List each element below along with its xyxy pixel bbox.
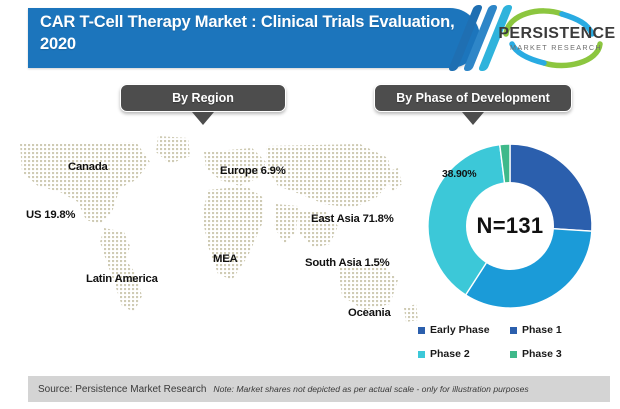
footer-source: Source: Persistence Market Research <box>38 384 206 395</box>
map-label-canada: Canada <box>68 161 108 173</box>
legend-swatch-phase-1 <box>510 327 517 334</box>
legend-label-phase-1: Phase 1 <box>522 324 562 336</box>
world-map: Canada US 19.8% Latin America Europe 6.9… <box>8 128 428 340</box>
legend-swatch-early-phase <box>418 327 425 334</box>
map-label-europe: Europe 6.9% <box>220 165 286 177</box>
logo-subtitle: MARKET RESEARCH <box>500 44 612 51</box>
legend-item-phase-1: Phase 1 <box>510 324 614 336</box>
footer-note: Note: Market shares not depicted as per … <box>213 384 528 394</box>
donut-slice-label-phase2: 38.90% <box>442 168 476 180</box>
legend-swatch-phase-2 <box>418 351 425 358</box>
legend-item-phase-3: Phase 3 <box>510 348 614 360</box>
donut-center-label: N=131 <box>477 213 544 239</box>
section-label-by-region: By Region <box>120 84 286 112</box>
page-title: CAR T-Cell Therapy Market : Clinical Tri… <box>40 12 470 56</box>
section-label-by-phase: By Phase of Development <box>374 84 572 112</box>
phase-donut-chart: 38.90% N=131 <box>424 140 596 312</box>
header: CAR T-Cell Therapy Market : Clinical Tri… <box>0 0 620 78</box>
map-label-mea: MEA <box>213 253 238 265</box>
legend-item-phase-2: Phase 2 <box>418 348 510 360</box>
footer: Source: Persistence Market Research Note… <box>28 376 610 402</box>
infographic-page: CAR T-Cell Therapy Market : Clinical Tri… <box>0 0 620 409</box>
legend-label-phase-2: Phase 2 <box>430 348 470 360</box>
map-label-us: US 19.8% <box>26 209 75 221</box>
pointer-triangle-region-icon <box>192 112 214 125</box>
logo-name: PERSISTENCE <box>498 26 613 42</box>
legend-item-early-phase: Early Phase <box>418 324 510 336</box>
map-label-east-asia: East Asia 71.8% <box>311 213 394 225</box>
pointer-triangle-phase-icon <box>462 112 484 125</box>
company-logo: PERSISTENCE MARKET RESEARCH <box>492 4 614 74</box>
chart-legend: Early Phase Phase 1 Phase 2 Phase 3 <box>418 318 614 366</box>
map-label-oceania: Oceania <box>348 307 391 319</box>
legend-label-phase-3: Phase 3 <box>522 348 562 360</box>
map-label-latin-america: Latin America <box>86 273 158 285</box>
legend-swatch-phase-3 <box>510 351 517 358</box>
legend-label-early-phase: Early Phase <box>430 324 490 336</box>
logo-text: PERSISTENCE MARKET RESEARCH <box>500 26 612 51</box>
map-label-south-asia: South Asia 1.5% <box>305 257 389 269</box>
